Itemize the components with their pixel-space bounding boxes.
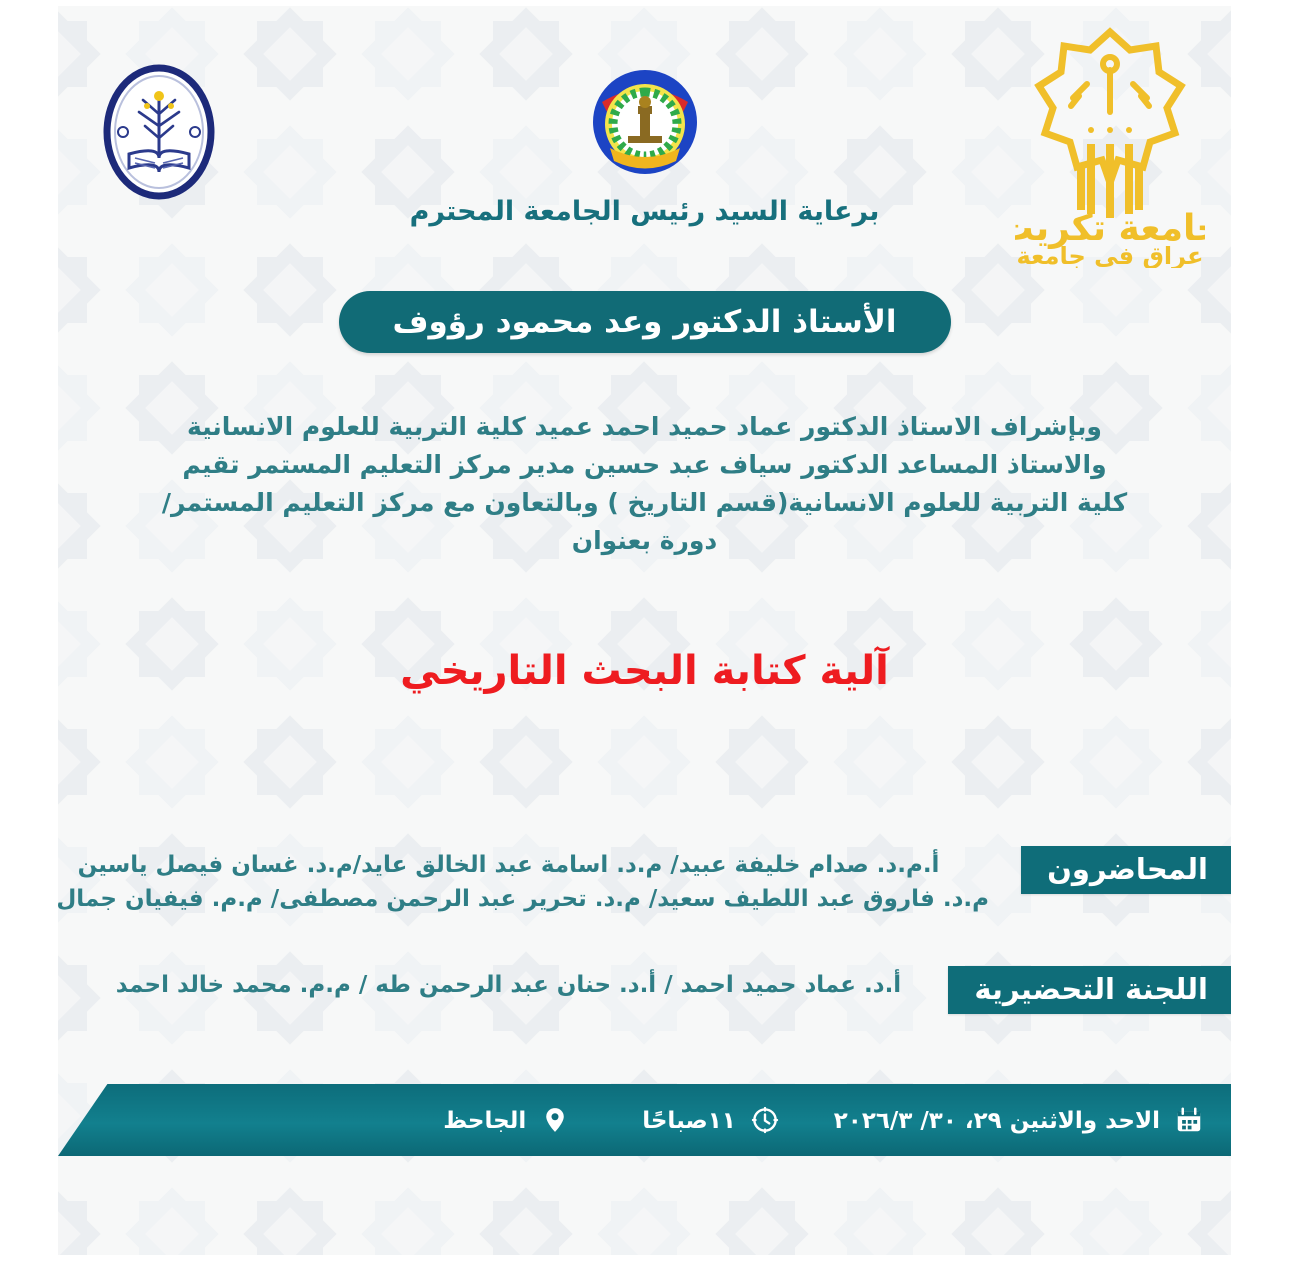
intro-paragraph: وبإشراف الاستاذ الدكتور عماد حميد احمد ع… [0,408,1289,560]
intro-line-1: وبإشراف الاستاذ الدكتور عماد حميد احمد ع… [0,408,1289,446]
president-name-label: الأستاذ الدكتور وعد محمود رؤوف [392,304,896,340]
committee-list: أ.د. عماد حميد احمد / أ.د. حنان عبد الرح… [28,968,989,1002]
event-date-item: الاحد والاثنين ٢٩، ٣٠/ ٢٠٢٦/٣ [834,1103,1206,1137]
lecturers-section: المحاضرون أ.م.د. صدام خليفة عبيد/ م.د. ا… [0,846,1289,956]
course-title: آلية كتابة البحث التاريخي [0,648,1289,694]
clock-icon [748,1103,782,1137]
committee-label: اللجنة التحضيرية [948,966,1234,1014]
event-location-item: الجاحظ [443,1103,572,1137]
committee-section: اللجنة التحضيرية أ.د. عماد حميد احمد / أ… [0,966,1289,1036]
page-margin-top [0,0,1289,6]
page-margin-right [1231,0,1289,1277]
lecturer-line-2: م.د. فاروق عبد اللطيف سعيد/ م.د. تحرير ع… [28,882,989,916]
logo-row: جامعة تكريت عراق في جامعة [0,0,1289,270]
lecturers-label: المحاضرون [1021,846,1234,894]
lecturers-list: أ.م.د. صدام خليفة عبيد/ م.د. اسامة عبد ا… [28,848,989,916]
lecturer-line-1: أ.م.د. صدام خليفة عبيد/ م.د. اسامة عبد ا… [28,848,989,882]
ministry-of-higher-education-seal-icon [580,62,710,182]
intro-line-3: كلية التربية للعلوم الانسانية(قسم التاري… [0,484,1289,522]
map-pin-icon [538,1103,572,1137]
svg-text:عراق في جامعة: عراق في جامعة [1017,242,1204,268]
event-info-bar: الاحد والاثنين ٢٩، ٣٠/ ٢٠٢٦/٣ ١١صباحًا [58,1084,1234,1156]
president-name-banner: الأستاذ الدكتور وعد محمود رؤوف [339,291,951,353]
intro-line-2: والاستاذ المساعد الدكتور سياف عبد حسين م… [0,446,1289,484]
poster-canvas: جامعة تكريت عراق في جامعة برعاية السيد ر… [0,0,1289,1277]
intro-line-4: دورة بعنوان [0,522,1289,560]
calendar-icon [1172,1103,1206,1137]
tikrit-university-logo-icon: جامعة تكريت عراق في جامعة [1015,18,1205,268]
event-location-label: الجاحظ [443,1106,526,1134]
page-margin-left [0,0,58,1277]
college-of-education-seal-icon [89,62,229,202]
event-date-label: الاحد والاثنين ٢٩، ٣٠/ ٢٠٢٦/٣ [834,1106,1160,1134]
committee-line-1: أ.د. عماد حميد احمد / أ.د. حنان عبد الرح… [28,968,989,1002]
page-margin-bottom [0,1255,1289,1277]
sponsor-line: برعاية السيد رئيس الجامعة المحترم [0,196,1289,227]
event-time-item: ١١صباحًا [642,1103,782,1137]
event-time-label: ١١صباحًا [642,1106,736,1134]
